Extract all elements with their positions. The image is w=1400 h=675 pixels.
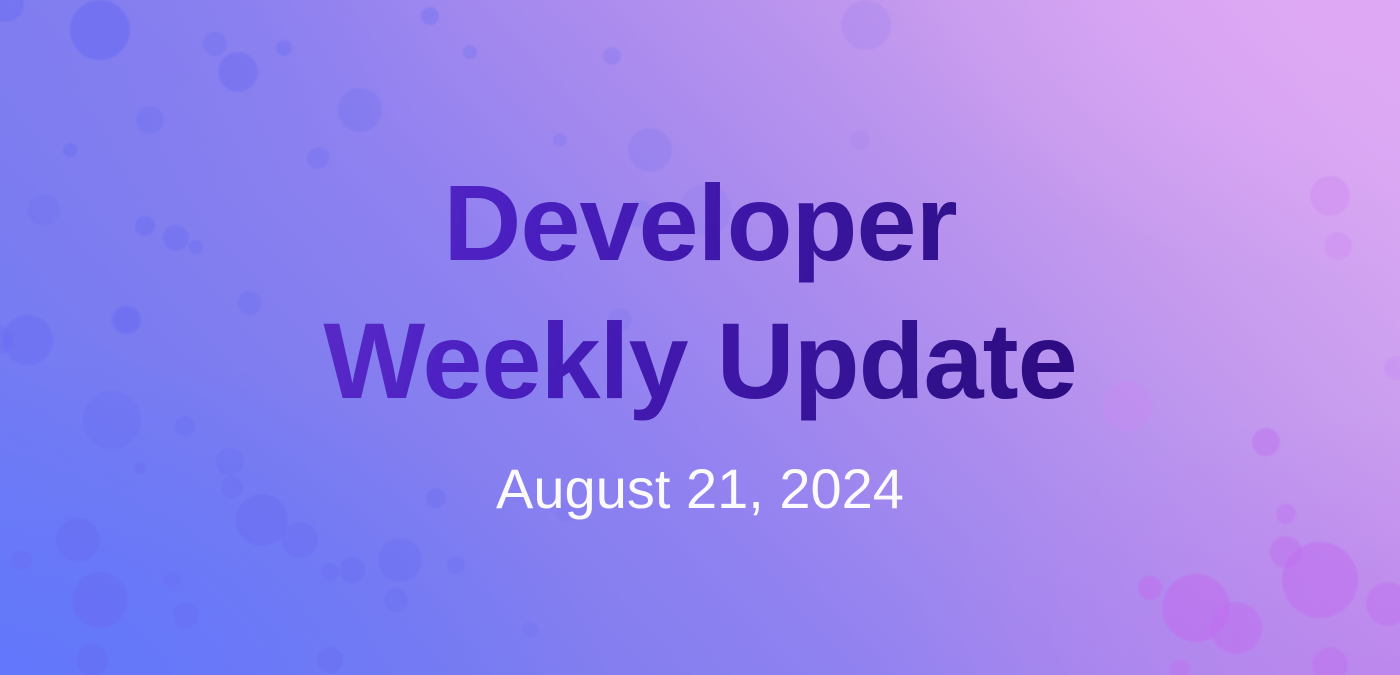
banner-title: Developer Weekly Update	[323, 154, 1076, 430]
banner-title-line-2: Weekly Update	[323, 292, 1076, 430]
banner-title-line-1: Developer	[323, 154, 1076, 292]
weekly-update-banner: Developer Weekly Update August 21, 2024	[0, 0, 1400, 675]
banner-content: Developer Weekly Update August 21, 2024	[0, 0, 1400, 675]
banner-date: August 21, 2024	[496, 456, 904, 521]
